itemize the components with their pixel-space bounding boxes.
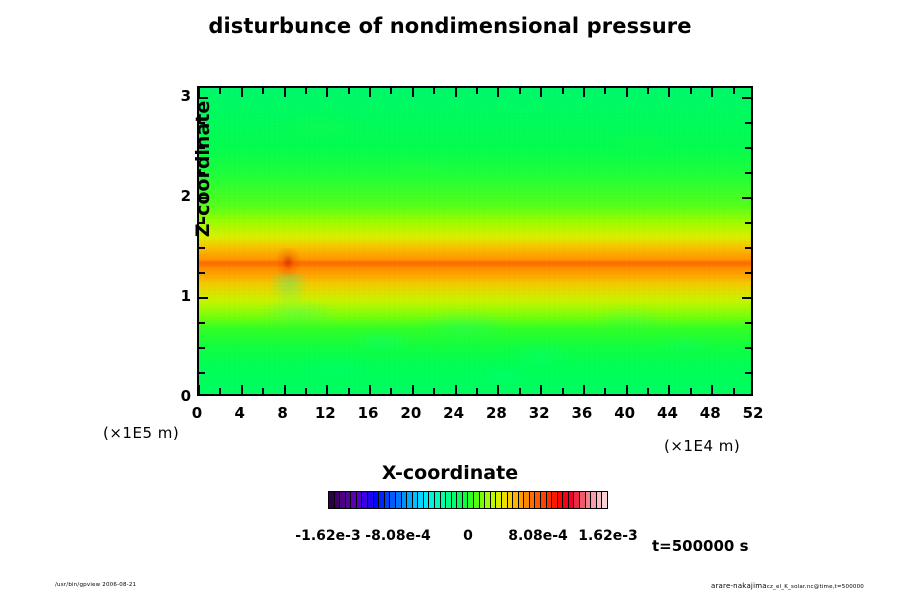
x-tick xyxy=(476,388,478,394)
y-tick xyxy=(742,197,751,199)
x-tick-label: 4 xyxy=(220,404,260,422)
x-tick xyxy=(219,88,221,94)
x-tick xyxy=(711,88,713,97)
x-tick-label: 12 xyxy=(305,404,345,422)
x-axis-unit-annotation: (×1E4 m) xyxy=(664,437,740,455)
x-tick xyxy=(241,385,243,394)
x-tick xyxy=(583,88,585,97)
x-tick xyxy=(198,385,200,394)
x-tick xyxy=(668,385,670,394)
x-tick xyxy=(733,388,735,394)
colorbar[interactable] xyxy=(328,491,608,509)
colorbar-cell xyxy=(602,492,607,508)
x-tick xyxy=(390,88,392,94)
y-tick xyxy=(745,372,751,374)
x-tick-label: 20 xyxy=(391,404,431,422)
x-tick xyxy=(305,88,307,94)
x-tick xyxy=(369,88,371,97)
x-tick xyxy=(262,388,264,394)
x-tick xyxy=(219,388,221,394)
x-tick xyxy=(647,88,649,94)
x-tick xyxy=(326,385,328,394)
colorbar-tick-label: 1.62e-3 xyxy=(563,528,653,544)
x-tick xyxy=(476,88,478,94)
x-tick xyxy=(284,88,286,97)
x-axis-tick-labels: 0481216202428323640444852 xyxy=(197,404,753,426)
x-tick xyxy=(241,88,243,97)
x-tick xyxy=(497,385,499,394)
x-tick-label: 16 xyxy=(348,404,388,422)
heatmap-plot-area[interactable] xyxy=(197,86,753,396)
figure-canvas: disturbunce of nondimensional pressure xyxy=(0,0,900,600)
x-tick xyxy=(626,385,628,394)
x-tick xyxy=(562,388,564,394)
x-tick xyxy=(348,388,350,394)
y-tick-label: 0 xyxy=(161,387,191,405)
x-tick xyxy=(562,88,564,94)
x-tick xyxy=(540,385,542,394)
y-tick xyxy=(745,147,751,149)
y-tick xyxy=(199,297,208,299)
x-tick xyxy=(711,385,713,394)
x-tick xyxy=(455,88,457,97)
y-tick xyxy=(745,347,751,349)
y-axis-title: Z-coordinate xyxy=(192,84,214,254)
y-tick xyxy=(742,297,751,299)
x-tick xyxy=(369,385,371,394)
x-tick xyxy=(668,88,670,97)
x-tick xyxy=(412,385,414,394)
footer-dataset: arare-nakajimacz_el_K_solar.nc@time,t=50… xyxy=(711,582,864,590)
y-tick-label: 2 xyxy=(161,187,191,205)
x-tick-label: 40 xyxy=(605,404,645,422)
x-tick xyxy=(519,388,521,394)
x-tick xyxy=(455,385,457,394)
x-tick xyxy=(647,388,649,394)
x-tick xyxy=(519,88,521,94)
y-tick xyxy=(199,372,205,374)
y-tick xyxy=(745,122,751,124)
x-tick xyxy=(326,88,328,97)
y-tick xyxy=(742,97,751,99)
x-axis-title: X-coordinate xyxy=(0,462,900,484)
footer-command: /usr/bin/gpview 2006-08-21 xyxy=(55,582,136,588)
x-tick xyxy=(305,388,307,394)
x-tick xyxy=(433,88,435,94)
x-tick xyxy=(604,88,606,94)
x-tick xyxy=(626,88,628,97)
colorbar-tick-labels: -1.62e-3-8.08e-408.08e-41.62e-3 xyxy=(300,528,640,548)
x-tick xyxy=(690,88,692,94)
y-axis-unit-annotation: (×1E5 m) xyxy=(103,424,179,442)
y-tick xyxy=(199,347,205,349)
x-tick xyxy=(583,385,585,394)
x-tick-label: 48 xyxy=(690,404,730,422)
x-tick xyxy=(433,388,435,394)
x-tick xyxy=(412,88,414,97)
x-tick xyxy=(690,388,692,394)
x-tick xyxy=(497,88,499,97)
y-tick xyxy=(745,172,751,174)
page-title: disturbunce of nondimensional pressure xyxy=(0,14,900,38)
x-tick-label: 28 xyxy=(476,404,516,422)
footer-dataset-name: arare-nakajima xyxy=(711,582,767,590)
heatmap-field xyxy=(199,88,751,394)
x-tick xyxy=(390,388,392,394)
x-tick-label: 24 xyxy=(434,404,474,422)
colorbar-gradient xyxy=(328,491,608,509)
x-tick-label: 44 xyxy=(647,404,687,422)
y-tick xyxy=(199,322,205,324)
y-tick xyxy=(745,222,751,224)
x-tick-label: 0 xyxy=(177,404,217,422)
x-tick xyxy=(604,388,606,394)
x-tick-label: 8 xyxy=(263,404,303,422)
x-tick xyxy=(540,88,542,97)
x-tick xyxy=(284,385,286,394)
x-tick-label: 36 xyxy=(562,404,602,422)
y-tick xyxy=(745,322,751,324)
x-tick xyxy=(262,88,264,94)
y-tick xyxy=(199,272,205,274)
y-axis-tick-labels: 0123 xyxy=(155,86,191,396)
field-grain xyxy=(199,88,751,394)
x-tick-label: 32 xyxy=(519,404,559,422)
y-tick-label: 3 xyxy=(161,87,191,105)
y-tick-label: 1 xyxy=(161,287,191,305)
x-tick-label: 52 xyxy=(733,404,773,422)
y-tick xyxy=(745,247,751,249)
x-tick xyxy=(733,88,735,94)
footer-dataset-meta: cz_el_K_solar.nc@time,t=500000 xyxy=(767,584,864,590)
x-tick xyxy=(348,88,350,94)
time-annotation: t=500000 s xyxy=(652,537,749,555)
y-tick xyxy=(745,272,751,274)
